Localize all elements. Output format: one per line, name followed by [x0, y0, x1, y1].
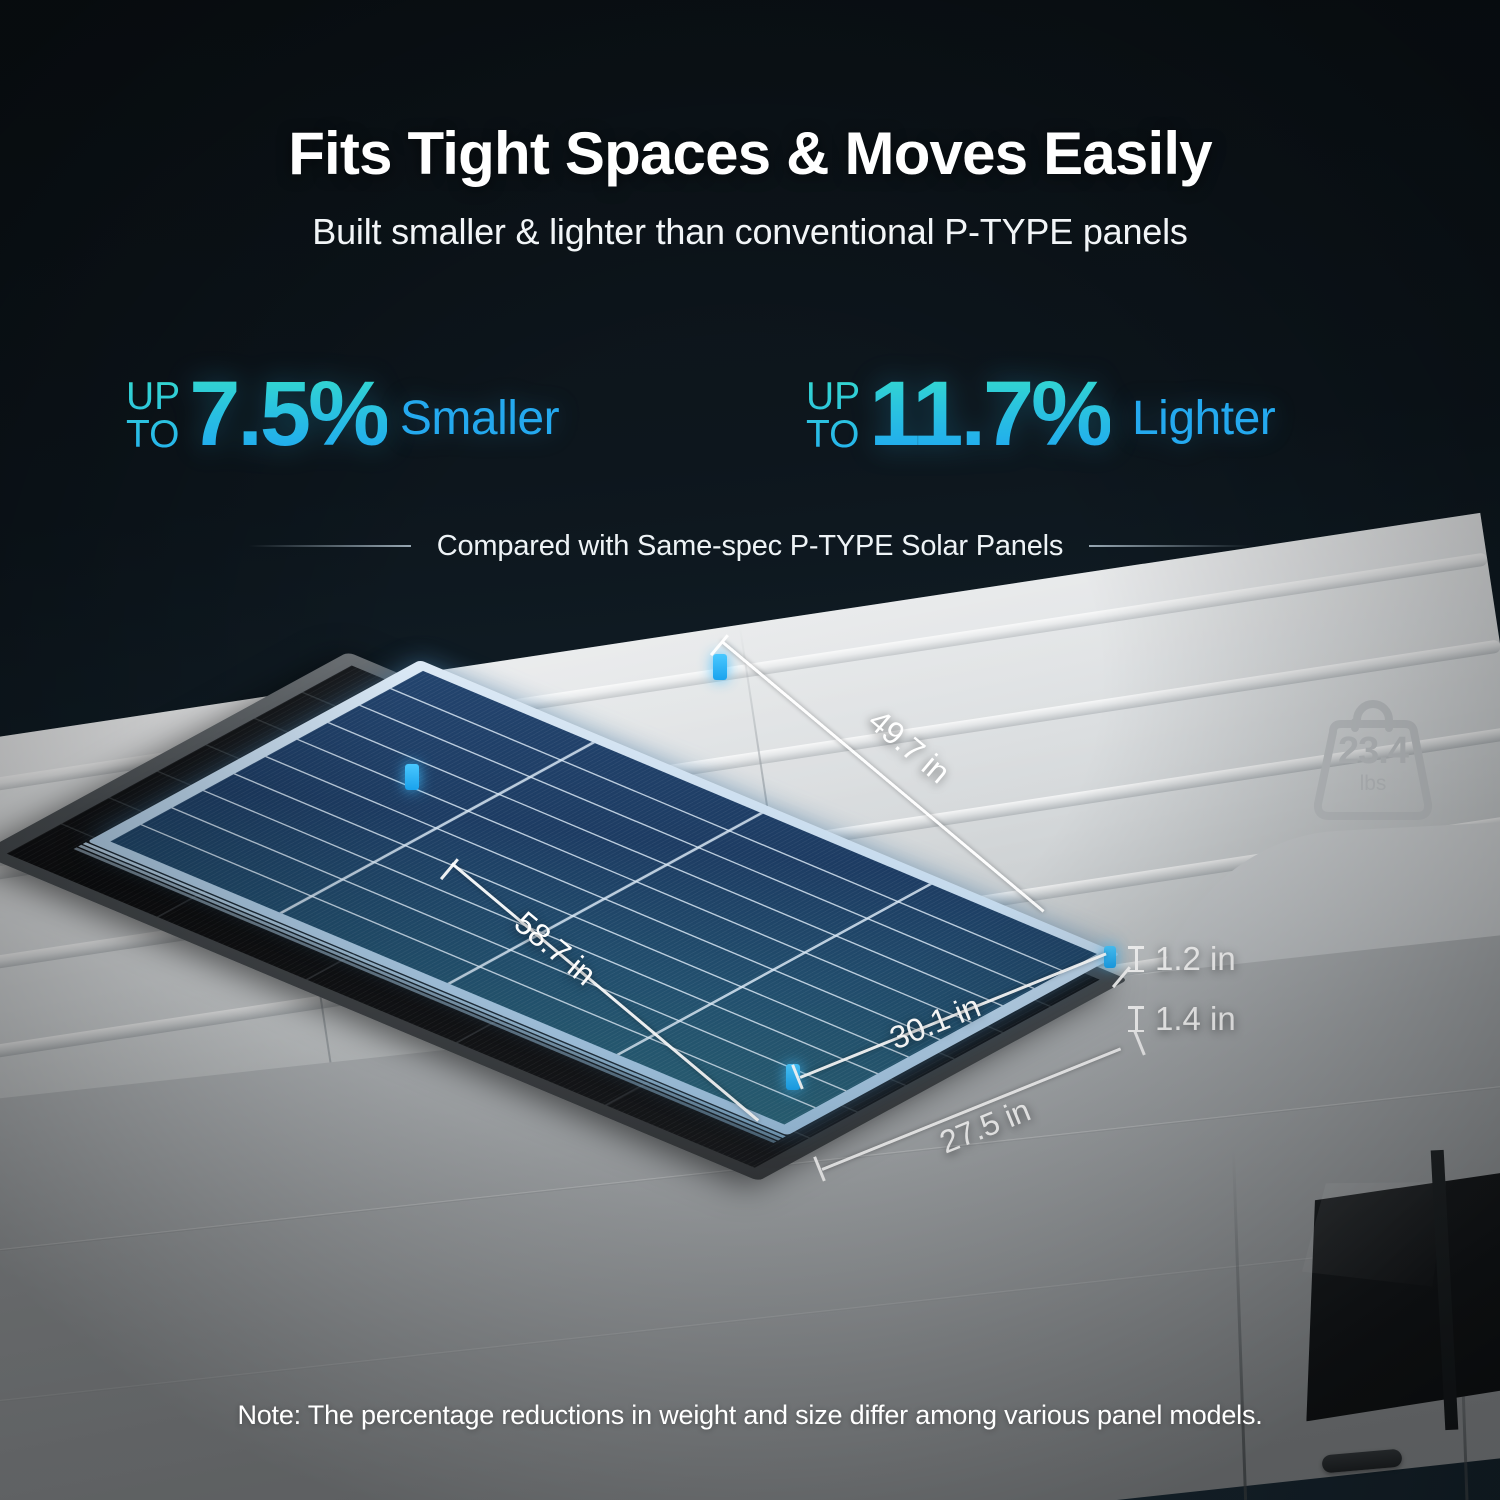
stats-row: UP TO 7.5% Smaller UP TO 11.7% Lighter: [0, 368, 1500, 488]
stat-lighter-prefix-line2: TO: [806, 416, 860, 454]
stat-smaller-prefix-line2: TO: [126, 416, 180, 454]
divider-right: [1089, 545, 1251, 547]
footer-note: Note: The percentage reductions in weigh…: [0, 1400, 1500, 1431]
stat-smaller-prefix: UP TO: [126, 374, 180, 454]
stat-lighter-value: 11.7%: [869, 368, 1110, 460]
stat-lighter: UP TO 11.7% Lighter: [806, 368, 1275, 460]
page-subtitle: Built smaller & lighter than conventiona…: [0, 211, 1500, 253]
stat-smaller-value: 7.5%: [189, 368, 387, 460]
page-title: Fits Tight Spaces & Moves Easily: [0, 122, 1500, 185]
stat-smaller: UP TO 7.5% Smaller: [126, 368, 559, 460]
comparison-caption: Compared with Same-spec P-TYPE Solar Pan…: [0, 524, 1500, 568]
stat-smaller-word: Smaller: [400, 386, 559, 443]
divider-left: [249, 545, 411, 547]
infographic-canvas: 49.7 in 58.7 in 30.1 in 27.5 in 1.2 in 1…: [0, 0, 1500, 1500]
header-block: Fits Tight Spaces & Moves Easily Built s…: [0, 0, 1500, 253]
stat-lighter-prefix-line1: UP: [806, 378, 860, 416]
stat-lighter-word: Lighter: [1132, 386, 1275, 443]
stat-smaller-prefix-line1: UP: [126, 378, 180, 416]
stat-lighter-prefix: UP TO: [806, 374, 860, 454]
comparison-text: Compared with Same-spec P-TYPE Solar Pan…: [437, 530, 1063, 563]
